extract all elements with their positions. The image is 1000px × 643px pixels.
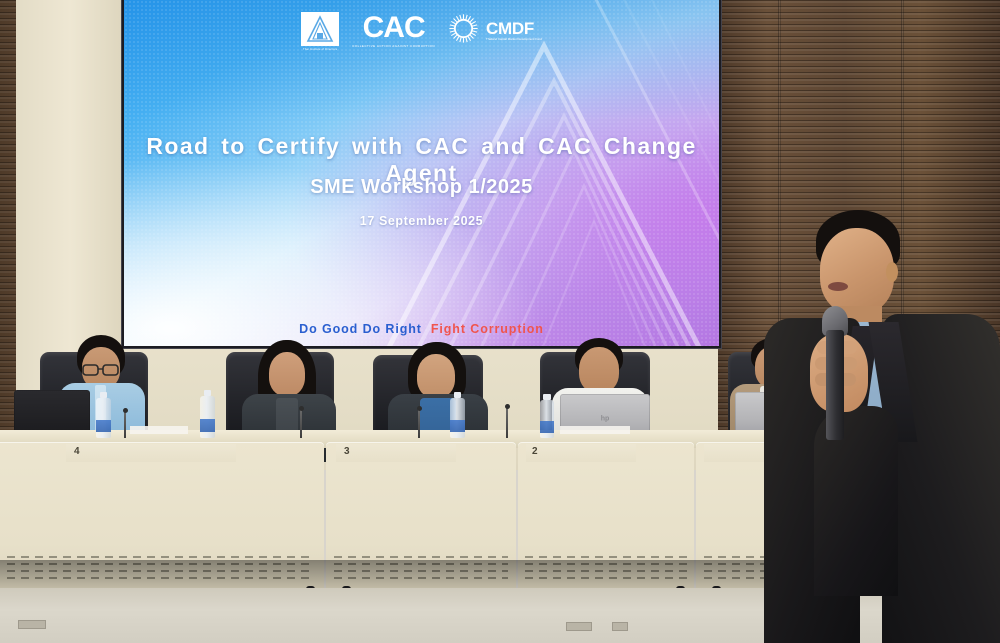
cmdf-logo-word: CMDF bbox=[486, 20, 542, 37]
speaker-mouth bbox=[828, 282, 848, 291]
iod-logo: Thai Institute of Directors bbox=[301, 12, 339, 51]
hp-logo-icon: hp bbox=[601, 415, 610, 422]
paper-sheet-1 bbox=[130, 426, 188, 434]
table-panel-3-placard bbox=[336, 444, 456, 462]
floor-outlet-3 bbox=[612, 622, 628, 631]
slide-date: 17 September 2025 bbox=[124, 214, 719, 228]
tagline-primary: Do Good Do Right bbox=[299, 322, 422, 336]
table-number-2: 2 bbox=[532, 446, 538, 457]
cmdf-logo-caption: Thailand Capital Market Development Fund bbox=[486, 38, 542, 42]
speaker-ear bbox=[886, 262, 898, 282]
slide-logo-row: Thai Institute of Directors CAC COLLECTI… bbox=[124, 12, 719, 51]
cmdf-logo: CMDF Thailand Capital Market Development… bbox=[448, 13, 542, 49]
water-bottle-2 bbox=[200, 396, 215, 438]
cac-logo: CAC COLLECTIVE ACTION AGAINST CORRUPTION bbox=[352, 14, 435, 48]
water-bottle-1 bbox=[96, 398, 111, 438]
table-number-3: 3 bbox=[344, 446, 350, 457]
conference-room-photo: Thai Institute of Directors CAC COLLECTI… bbox=[0, 0, 1000, 643]
speaker-head bbox=[820, 228, 894, 314]
microphone-2 bbox=[300, 410, 302, 438]
cac-logo-caption: COLLECTIVE ACTION AGAINST CORRUPTION bbox=[352, 45, 435, 49]
floor-outlet-2 bbox=[566, 622, 592, 631]
tagline-accent: Fight Corruption bbox=[431, 322, 544, 336]
cmdf-logo-mark bbox=[448, 13, 479, 49]
projection-screen: Thai Institute of Directors CAC COLLECTI… bbox=[124, 0, 719, 346]
table-number-4: 4 bbox=[74, 446, 80, 457]
paper-sheet-2 bbox=[560, 426, 630, 434]
slide-tagline: Do Good Do RightFight Corruption bbox=[124, 322, 719, 336]
floor-outlet-1 bbox=[18, 620, 46, 629]
microphone-4 bbox=[506, 408, 508, 438]
panelist-2-head bbox=[269, 352, 305, 396]
water-bottle-3 bbox=[450, 398, 465, 438]
microphone-handle bbox=[826, 330, 844, 440]
slide-subtitle: SME Workshop 1/2025 bbox=[124, 176, 719, 199]
microphone-3 bbox=[418, 410, 420, 438]
cac-logo-word: CAC bbox=[363, 14, 425, 43]
table-panel-2-placard bbox=[526, 444, 636, 462]
panelist-3-head bbox=[417, 354, 455, 398]
table-panel-4-placard bbox=[66, 444, 236, 462]
panelist-4-head bbox=[579, 347, 619, 393]
water-bottle-4 bbox=[540, 400, 554, 438]
microphone-1 bbox=[124, 412, 126, 438]
speaker bbox=[770, 210, 1000, 643]
panelist-1-glasses-icon bbox=[81, 363, 123, 377]
iod-logo-caption: Thai Institute of Directors bbox=[301, 48, 339, 51]
iod-logo-mark bbox=[301, 12, 339, 46]
